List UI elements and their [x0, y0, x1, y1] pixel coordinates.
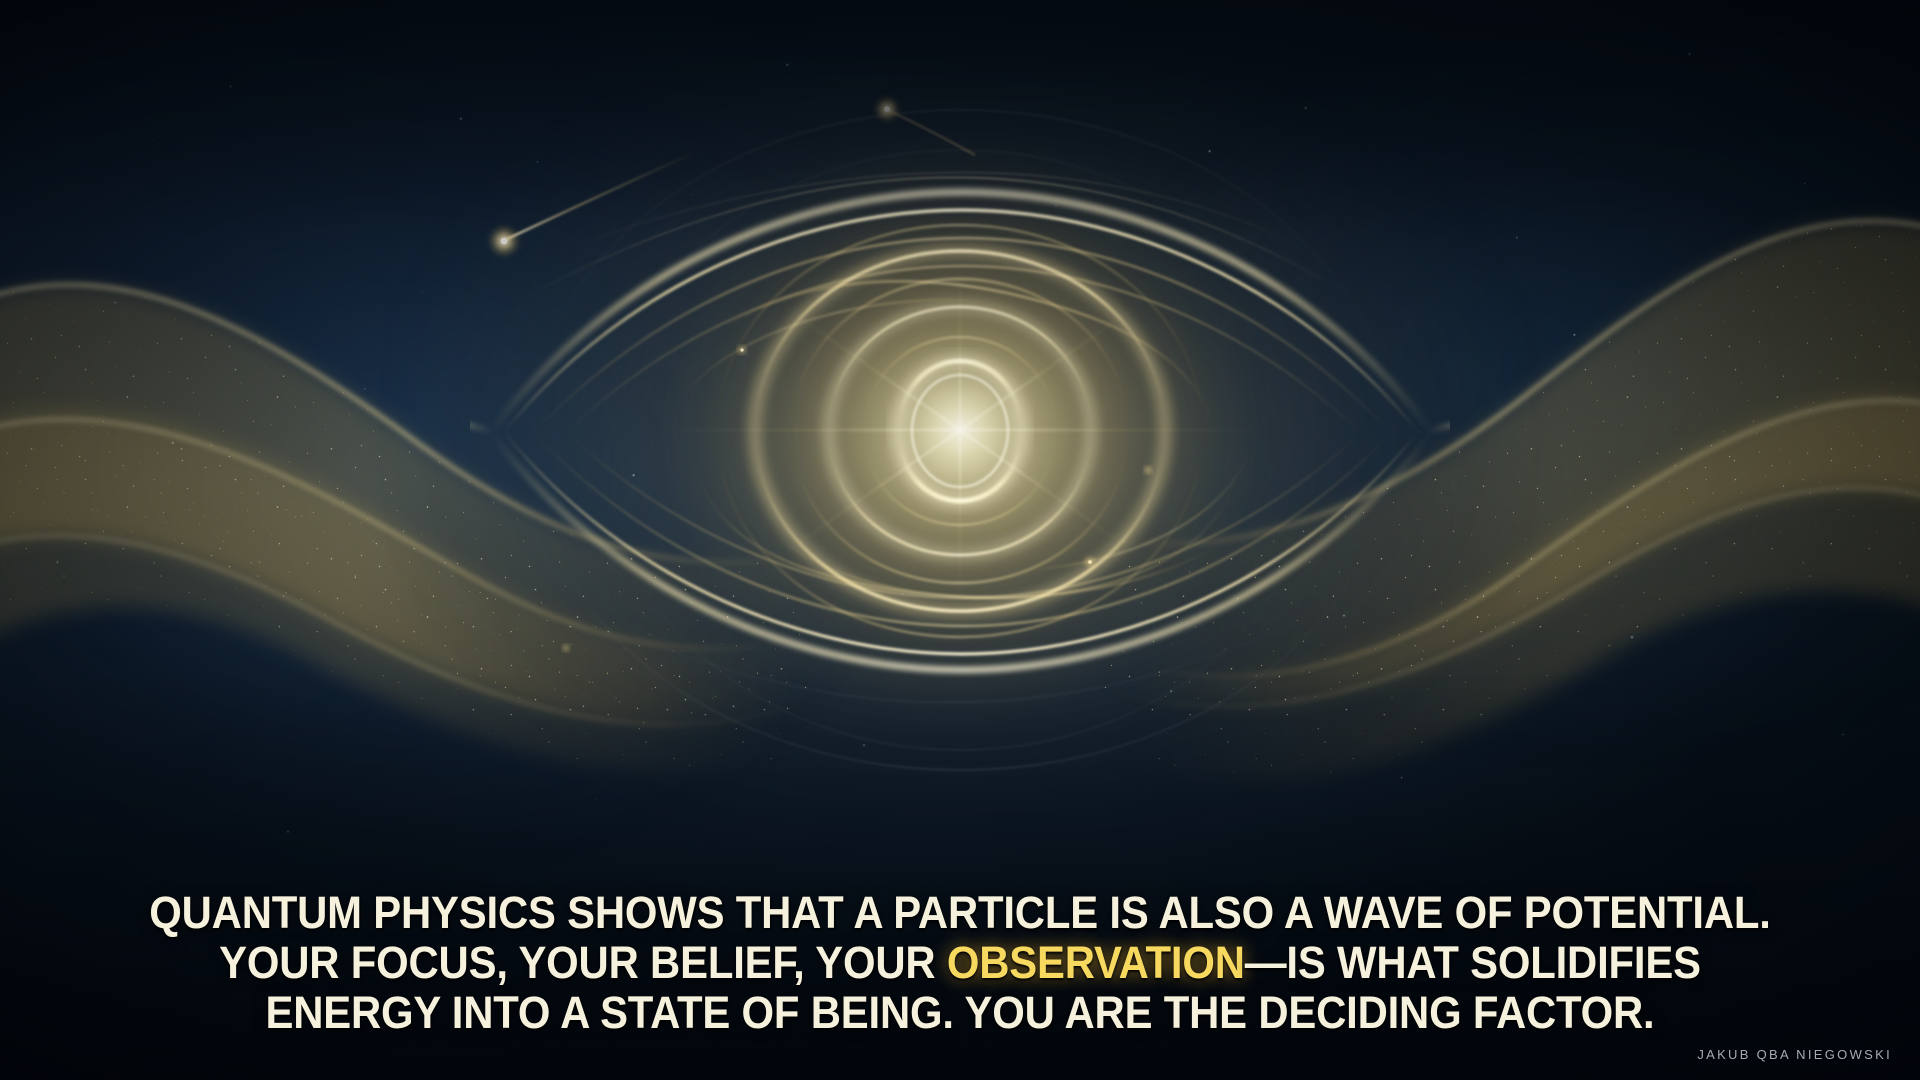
caption-highlight-word: OBSERVATION: [947, 937, 1245, 988]
caption-line-2-suffix: —IS WHAT SOLIDIFIES: [1245, 937, 1701, 988]
caption-line-1: QUANTUM PHYSICS SHOWS THAT A PARTICLE IS…: [123, 888, 1797, 938]
caption-line-2-prefix: YOUR FOCUS, YOUR BELIEF, YOUR: [219, 937, 947, 988]
caption-block: QUANTUM PHYSICS SHOWS THAT A PARTICLE IS…: [0, 888, 1920, 1038]
scene-canvas: QUANTUM PHYSICS SHOWS THAT A PARTICLE IS…: [0, 0, 1920, 1080]
golden-particle-wave-right: [1100, 221, 1920, 783]
golden-particle-wave-left: [0, 285, 820, 773]
caption-line-3: ENERGY INTO A STATE OF BEING. YOU ARE TH…: [123, 988, 1797, 1038]
caption-line-2: YOUR FOCUS, YOUR BELIEF, YOUR OBSERVATIO…: [123, 938, 1797, 988]
creator-credit: JAKUB QBA NIEGOWSKI: [1697, 1047, 1892, 1062]
